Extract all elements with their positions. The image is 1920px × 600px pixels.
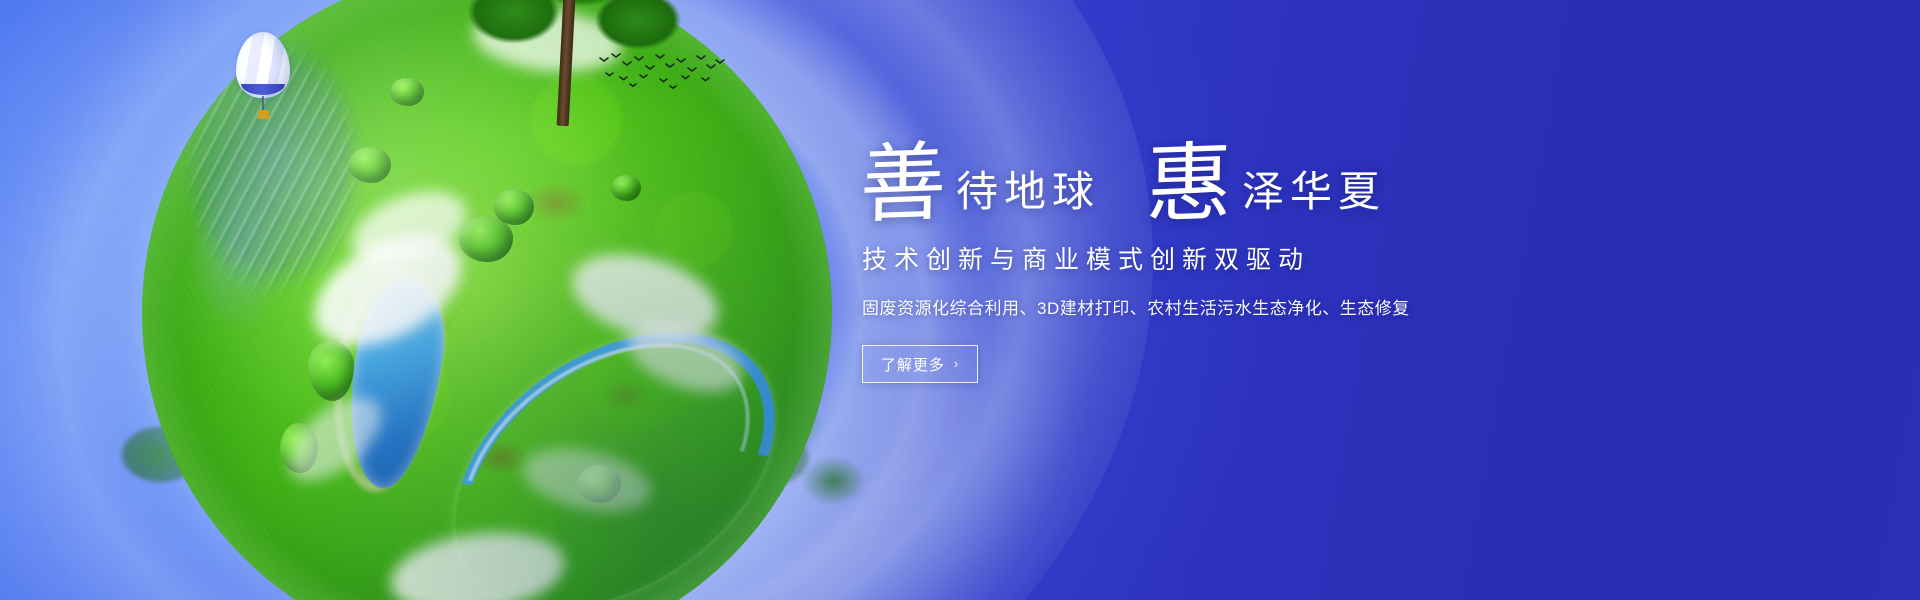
hot-air-balloon-icon xyxy=(236,32,290,124)
learn-more-label: 了解更多 xyxy=(881,354,945,375)
hero-subtitle: 技术创新与商业模式创新双驱动 xyxy=(862,240,1560,276)
chevron-right-icon: › xyxy=(954,356,959,371)
headline-word-1-small: 待地球 xyxy=(952,172,1100,224)
page-title: 善 待地球 惠 泽华夏 xyxy=(860,128,1560,224)
balloon-rope xyxy=(262,96,264,111)
headline-word-2-large: 惠 xyxy=(1145,143,1238,225)
bush-cluster xyxy=(349,147,391,183)
hero-banner: 善 待地球 惠 泽华夏 技术创新与商业模式创新双驱动 固废资源化综合利用、3D建… xyxy=(0,0,1920,600)
balloon-basket xyxy=(258,110,269,119)
hero-copy: 善 待地球 惠 泽华夏 技术创新与商业模式创新双驱动 固废资源化综合利用、3D建… xyxy=(860,128,1560,383)
hero-description: 固废资源化综合利用、3D建材打印、农村生活污水生态净化、生态修复 xyxy=(862,294,1560,319)
headline-word-2-small: 泽华夏 xyxy=(1238,172,1386,224)
bird-flock-icon xyxy=(596,48,726,94)
bush-cluster xyxy=(494,189,534,225)
learn-more-button[interactable]: 了解更多 › xyxy=(862,345,978,383)
bush-cluster xyxy=(611,175,641,201)
headline-word-1-large: 善 xyxy=(859,143,952,225)
